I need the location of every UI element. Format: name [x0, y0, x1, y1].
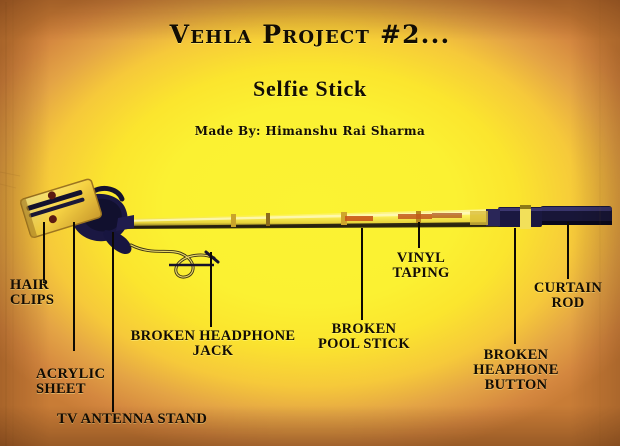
leader-hair-clips: [43, 222, 45, 283]
callout-hair-clips: HAIR CLIPS: [10, 278, 54, 308]
leader-broken-pool-stick: [361, 228, 363, 320]
broken-headphone-jack: [131, 245, 218, 277]
credit-line: Made By: Himanshu Rai Sharma: [0, 124, 620, 138]
acrylic-sheet: [20, 178, 102, 238]
hair-clips: [20, 182, 91, 238]
callout-broken-headphone-jack: BROKEN HEADPHONE JACK: [131, 329, 296, 359]
project-poster: Vehla Project #2... Selfie Stick Made By…: [0, 0, 620, 446]
leader-curtain-rod: [567, 222, 569, 279]
leader-broken-headphone-jack: [210, 252, 212, 327]
broken-heaphone-button: [498, 205, 542, 229]
callout-broken-heaphone-button: BROKEN HEAPHONE BUTTON: [464, 348, 568, 392]
shaft-joints: [231, 211, 421, 227]
pool-stick-shaft: [118, 209, 500, 229]
leader-vinyl-taping: [418, 222, 420, 248]
callout-curtain-rod: CURTAIN ROD: [534, 281, 602, 311]
callout-tv-antenna-stand: TV ANTENNA STAND: [57, 412, 207, 427]
callout-acrylic-sheet: ACRYLIC SHEET: [36, 367, 105, 397]
curtain-rod: [470, 205, 612, 229]
page-title: Vehla Project #2...: [0, 20, 620, 49]
callout-vinyl-taping: VINYL TAPING: [392, 251, 449, 281]
tv-antenna-stand: [72, 188, 134, 254]
leader-broken-heaphone-button: [514, 228, 516, 344]
callout-broken-pool-stick: BROKEN POOL STICK: [318, 322, 410, 352]
leader-acrylic-sheet: [73, 222, 75, 351]
project-subtitle: Selfie Stick: [0, 76, 620, 102]
vinyl-taping: [345, 213, 462, 221]
leader-tv-antenna-stand: [112, 232, 114, 412]
